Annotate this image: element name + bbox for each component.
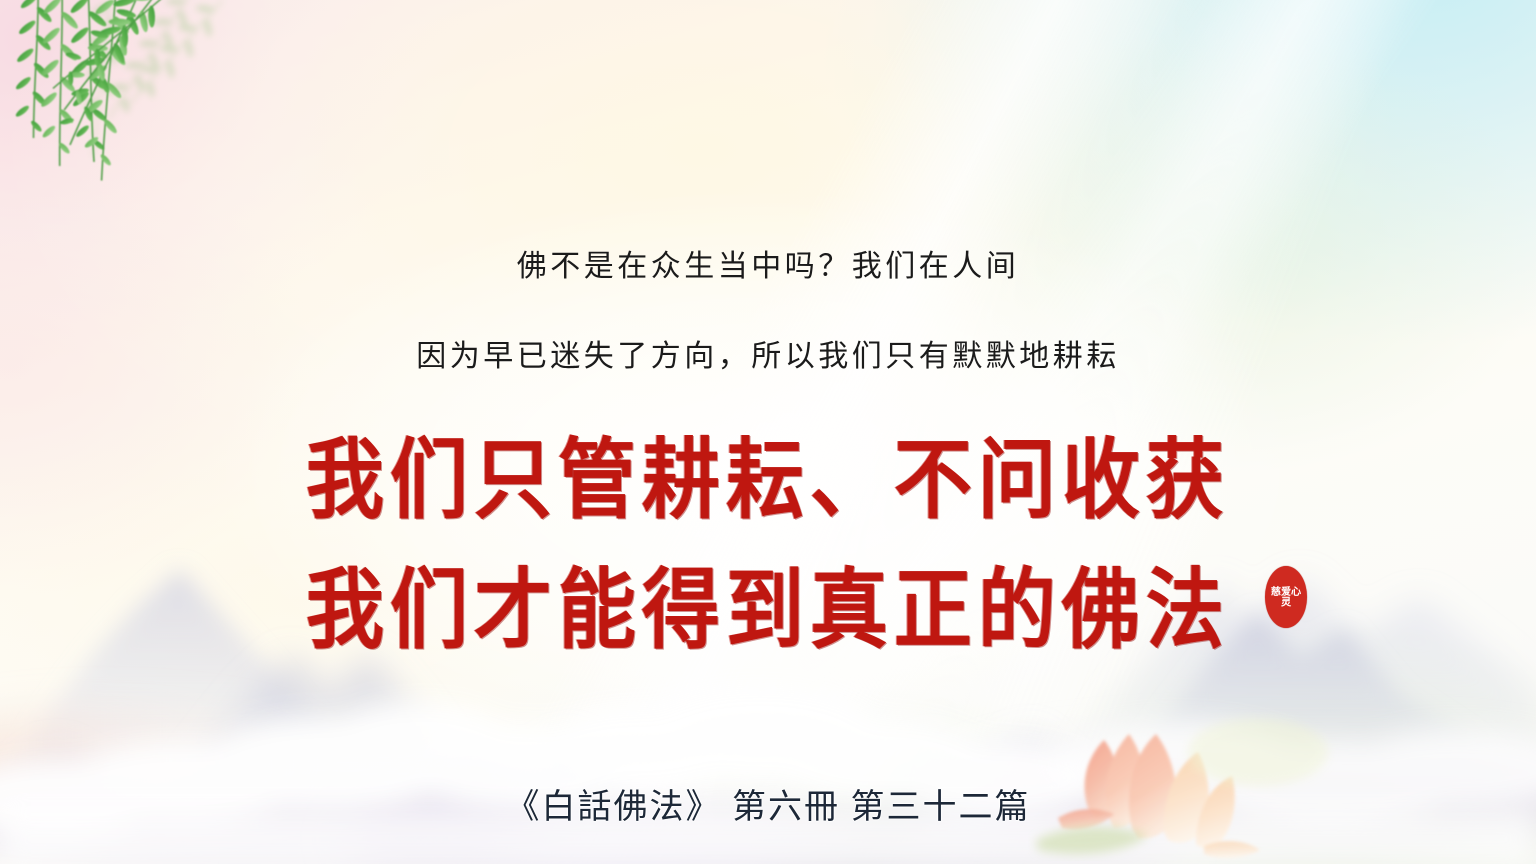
source-caption: 《白話佛法》 第六冊 第三十二篇 [0,779,1536,828]
seal-characters: 慈爱心灵 [1268,587,1305,607]
seal-stamp-icon: 慈爱心灵 [1265,566,1307,628]
quote-subline-2: 因为早已迷失了方向，所以我们只有默默地耕耘 [0,331,1536,375]
quote-card: 佛不是在众生当中吗？我们在人间 因为早已迷失了方向，所以我们只有默默地耕耘 我们… [0,0,1536,864]
quote-headline-1: 我们只管耕耘、不问收获 [0,410,1536,535]
quote-subline-1: 佛不是在众生当中吗？我们在人间 [0,241,1536,285]
quote-content: 佛不是在众生当中吗？我们在人间 因为早已迷失了方向，所以我们只有默默地耕耘 我们… [0,0,1536,864]
